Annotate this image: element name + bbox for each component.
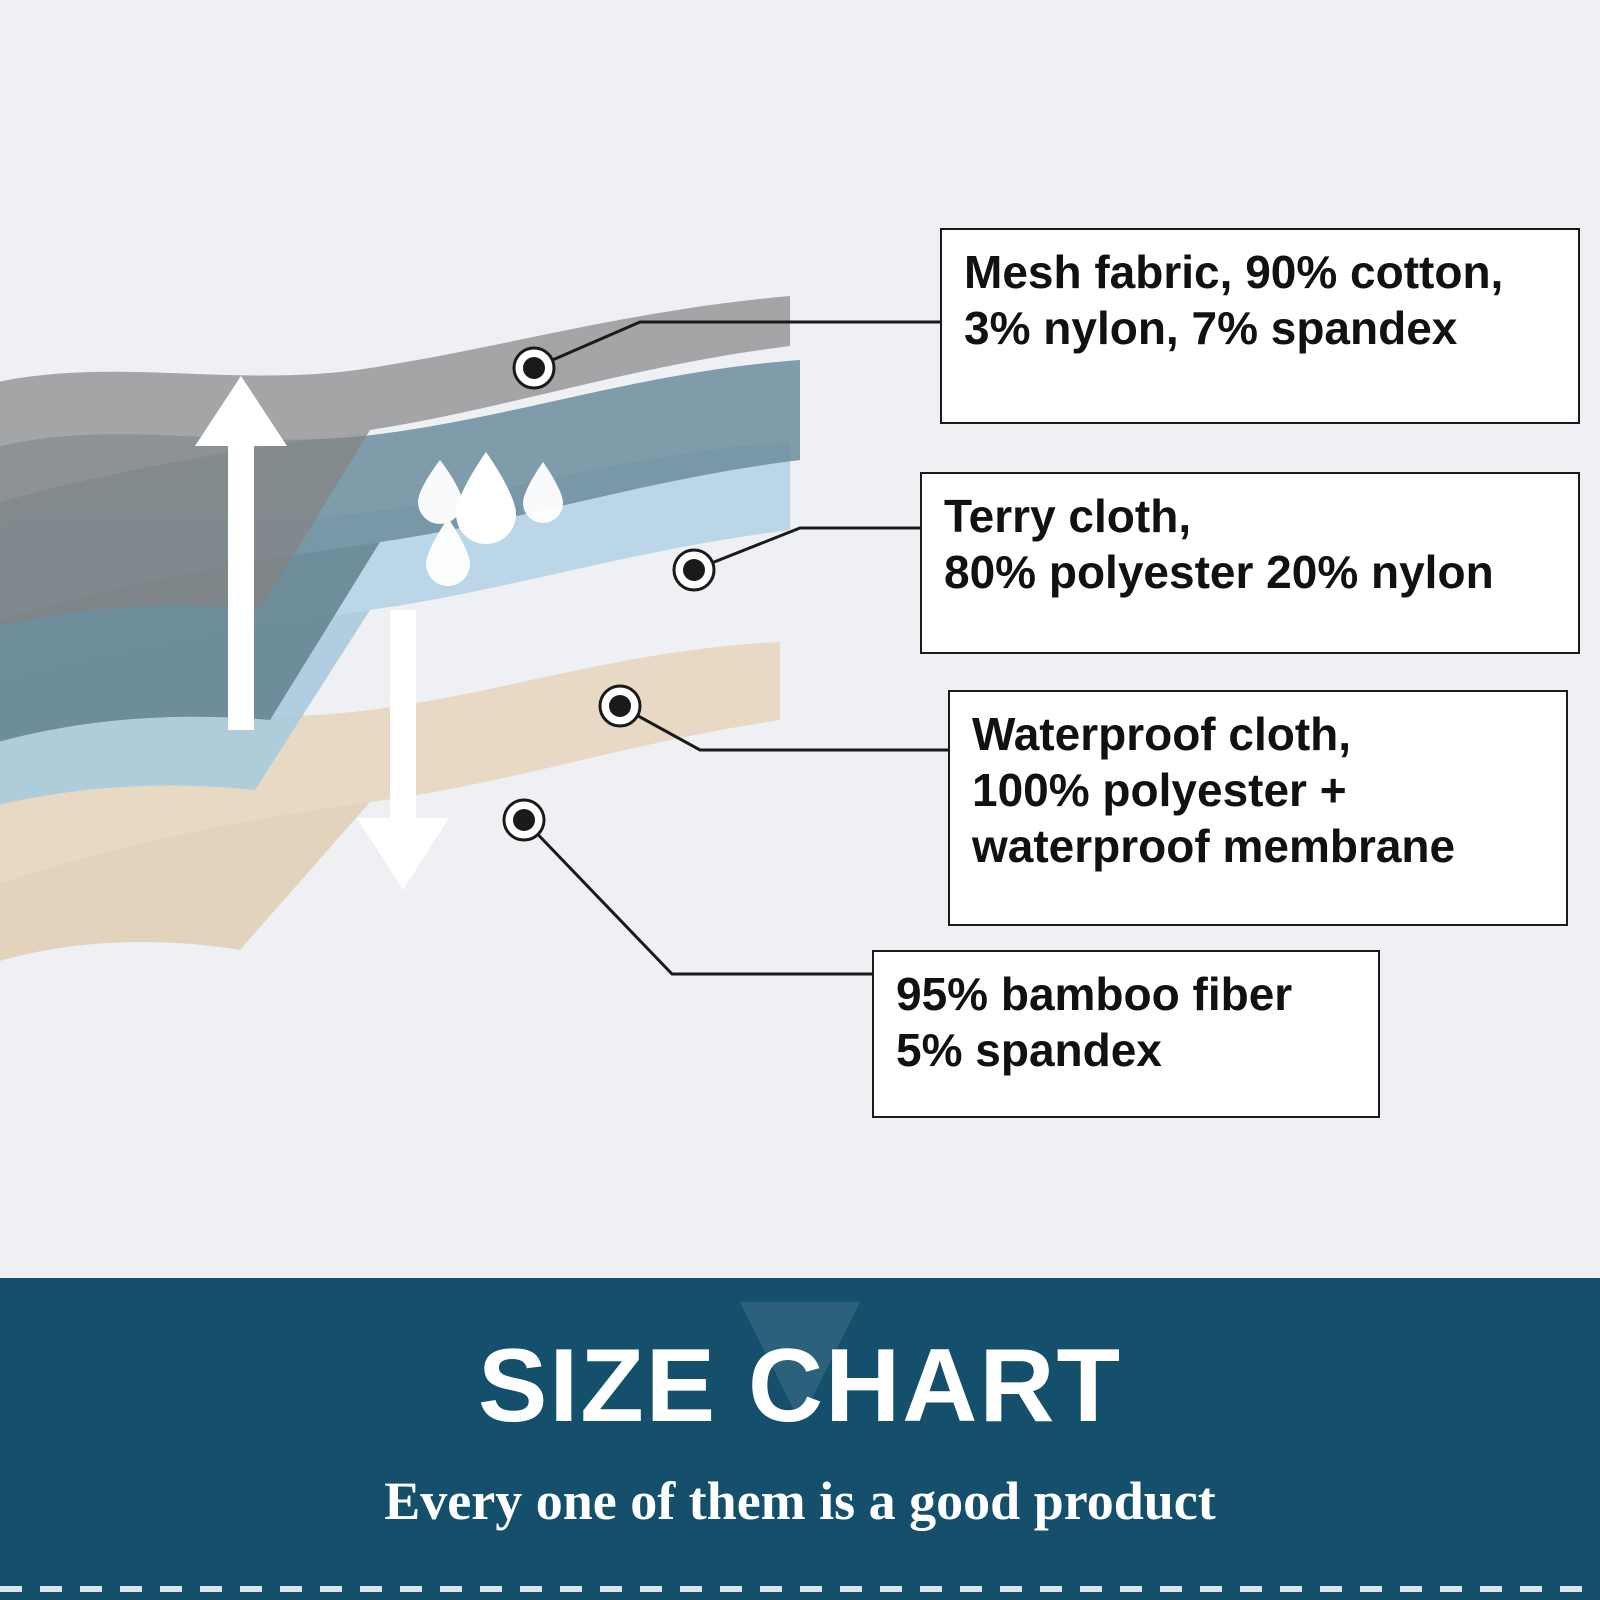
banner-subtitle: Every one of them is a good product (0, 1474, 1600, 1528)
callout-waterproof-line-1: Waterproof cloth, (972, 706, 1548, 762)
callout-terry-line-1: Terry cloth, (944, 488, 1560, 544)
callout-bamboo-line-1: 95% bamboo fiber (896, 966, 1360, 1022)
callout-bamboo-fiber: 95% bamboo fiber 5% spandex (872, 950, 1380, 1118)
callout-mesh-line-1: Mesh fabric, 90% cotton, (964, 244, 1560, 300)
banner-title: SIZE CHART (0, 1334, 1600, 1438)
callout-waterproof-line-3: waterproof membrane (972, 818, 1548, 874)
callout-terry-line-2: 80% polyester 20% nylon (944, 544, 1560, 600)
page-root: Mesh fabric, 90% cotton, 3% nylon, 7% sp… (0, 0, 1600, 1600)
fabric-layers-diagram: Mesh fabric, 90% cotton, 3% nylon, 7% sp… (0, 0, 1600, 1278)
callout-bamboo-line-2: 5% spandex (896, 1022, 1360, 1078)
callout-mesh-fabric: Mesh fabric, 90% cotton, 3% nylon, 7% sp… (940, 228, 1580, 424)
dashed-divider (0, 1586, 1600, 1592)
callout-waterproof-line-2: 100% polyester + (972, 762, 1548, 818)
callout-mesh-line-2: 3% nylon, 7% spandex (964, 300, 1560, 356)
size-chart-banner: SIZE CHART Every one of them is a good p… (0, 1278, 1600, 1600)
callout-terry-cloth: Terry cloth, 80% polyester 20% nylon (920, 472, 1580, 654)
callout-waterproof-cloth: Waterproof cloth, 100% polyester + water… (948, 690, 1568, 926)
